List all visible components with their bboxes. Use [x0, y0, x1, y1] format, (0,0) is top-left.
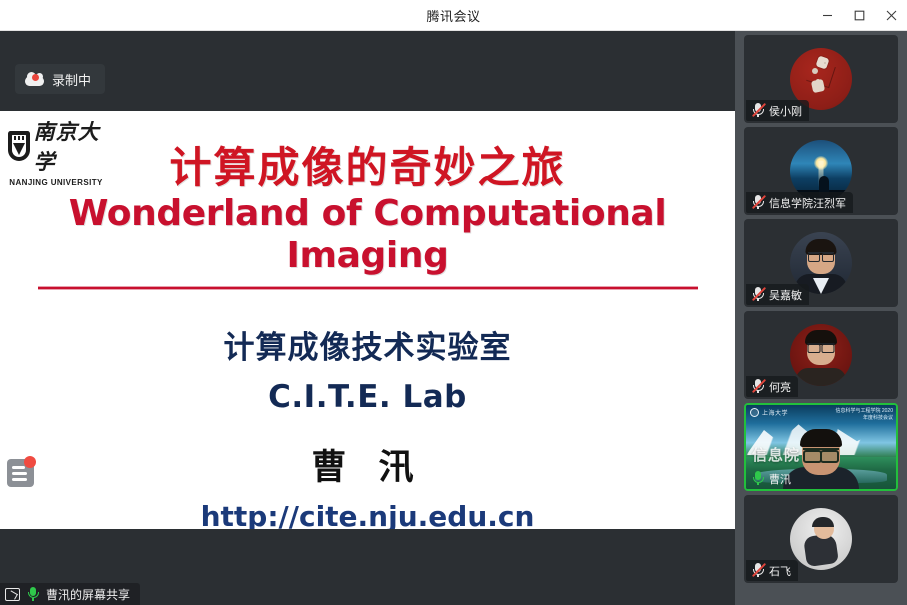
close-button[interactable]: [875, 0, 907, 31]
speaker-name: 曹 汛: [0, 439, 735, 490]
notification-badge: [24, 456, 36, 468]
stage-letterbox-top: 录制中: [0, 31, 735, 111]
shield-icon: [8, 131, 30, 161]
participant-tile[interactable]: 何亮: [744, 311, 898, 399]
participant-name: 石飞: [769, 563, 791, 579]
window-title: 腾讯会议: [426, 6, 480, 25]
mic-muted-icon: [751, 287, 765, 302]
video-overlay-logo-text: 上海大学: [762, 408, 788, 417]
participant-tile[interactable]: 石飞: [744, 495, 898, 583]
participant-tile[interactable]: 吴嘉敏: [744, 219, 898, 307]
tencent-meeting-window: 腾讯会议 录制中: [0, 0, 907, 605]
screen-share-label: 曹汛的屏幕共享: [46, 586, 130, 603]
title-bar: 腾讯会议: [0, 0, 907, 31]
participant-tile-active-speaker[interactable]: 上海大学 信息科学与工程学院 2020年度科技会议 信息院 曹汛: [744, 403, 898, 491]
window-controls: [811, 0, 907, 31]
avatar: [790, 508, 852, 570]
participant-nameplate: 何亮: [746, 376, 798, 397]
mic-muted-icon: [751, 379, 765, 394]
stage-letterbox-bottom: 曹汛的屏幕共享: [0, 529, 735, 605]
avatar: [790, 324, 852, 386]
participant-name: 信息学院汪烈军: [769, 195, 846, 211]
lab-website-link[interactable]: http://cite.nju.edu.cn: [201, 500, 535, 529]
recording-badge[interactable]: 录制中: [15, 64, 105, 94]
lab-name-chinese: 计算成像技术实验室: [0, 322, 735, 367]
participant-tile[interactable]: 信息学院汪烈军: [744, 127, 898, 215]
mic-on-icon: [26, 587, 40, 602]
logo-english-name: NANJING UNIVERSITY: [9, 178, 102, 187]
mic-muted-icon: [751, 195, 765, 210]
participant-name: 何亮: [769, 379, 791, 395]
maximize-button[interactable]: [843, 0, 875, 31]
university-mark-icon: [750, 408, 759, 417]
video-overlay-logo: 上海大学: [750, 408, 788, 417]
participant-nameplate: 石飞: [746, 560, 798, 581]
participant-nameplate: 曹汛: [746, 468, 798, 489]
mic-on-icon: [751, 471, 765, 486]
screen-share-icon: [5, 588, 20, 601]
annotation-list-icon[interactable]: [7, 459, 34, 487]
mic-muted-icon: [751, 103, 765, 118]
participant-sidebar[interactable]: 侯小刚 信息学院汪烈军: [735, 31, 907, 605]
minimize-button[interactable]: [811, 0, 843, 31]
presentation-slide: 南京大学 NANJING UNIVERSITY 计算成像的奇妙之旅 Wonder…: [0, 111, 735, 529]
participant-nameplate: 侯小刚: [746, 100, 809, 121]
shared-screen-stage: 录制中 南京大学 NANJING UNIVERSITY 计算成像的奇妙之旅: [0, 31, 735, 605]
slide-title-english: Wonderland of Computational Imaging: [0, 193, 735, 276]
title-divider: [38, 286, 698, 290]
video-overlay-banner: 信息科学与工程学院 2020年度科技会议: [835, 408, 893, 422]
logo-chinese-name: 南京大学: [34, 116, 104, 176]
recording-label: 录制中: [52, 70, 91, 89]
participant-name: 曹汛: [769, 471, 791, 487]
participant-name: 吴嘉敏: [769, 287, 802, 303]
participant-name: 侯小刚: [769, 103, 802, 119]
screen-share-bar: 曹汛的屏幕共享: [0, 583, 140, 605]
mic-muted-icon: [751, 563, 765, 578]
meeting-body: 录制中 南京大学 NANJING UNIVERSITY 计算成像的奇妙之旅: [0, 31, 907, 605]
participant-nameplate: 信息学院汪烈军: [746, 192, 853, 213]
participant-nameplate: 吴嘉敏: [746, 284, 809, 305]
slide-title-chinese: 计算成像的奇妙之旅: [0, 145, 735, 191]
cloud-record-icon: [25, 72, 44, 86]
nanjing-university-logo: 南京大学 NANJING UNIVERSITY: [8, 116, 104, 187]
participant-tile[interactable]: 侯小刚: [744, 35, 898, 123]
lab-name-english: C.I.T.E. Lab: [0, 379, 735, 415]
